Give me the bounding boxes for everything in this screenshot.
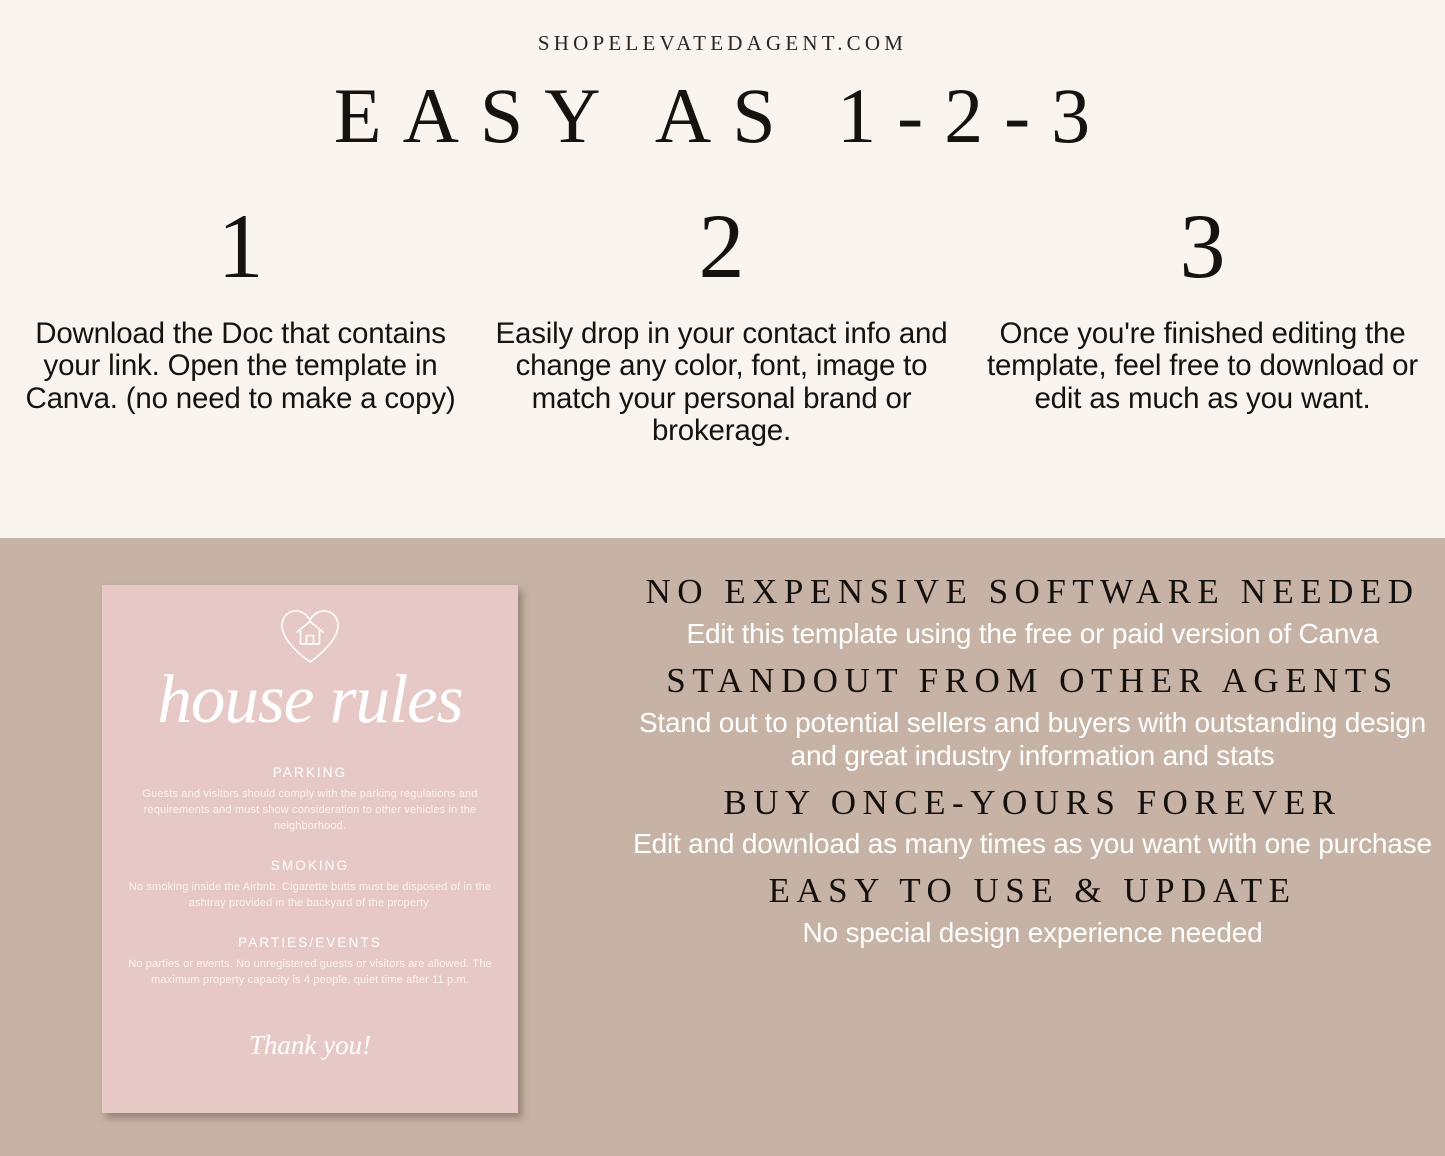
step-description: Once you're finished editing the templat… [962,318,1443,415]
step-description: Download the Doc that contains your link… [0,318,481,415]
heart-house-icon-wrap [102,607,518,667]
card-section-body: No smoking inside the Airbnb. Cigarette … [102,880,518,912]
card-title: house rules [102,665,518,734]
steps-row: 1 Download the Doc that contains your li… [0,200,1445,448]
feature-item-buy-once-yours-forever: BUY ONCE-YOURS FOREVER Edit and download… [620,781,1445,861]
house-rules-card: house rules PARKING Guests and visitors … [102,585,518,1113]
step-number: 2 [481,200,962,296]
feature-heading: BUY ONCE-YOURS FOREVER [620,781,1445,825]
step-number: 3 [962,200,1443,296]
feature-body: Edit this template using the free or pai… [620,617,1445,650]
page-title: EASY AS 1-2-3 [0,77,1445,155]
card-sections: PARKING Guests and visitors should compl… [102,765,518,1012]
card-section-smoking: SMOKING No smoking inside the Airbnb. Ci… [102,858,518,912]
step-item-1: 1 Download the Doc that contains your li… [0,200,481,448]
promo-graphic: SHOPELEVATEDAGENT.COM EASY AS 1-2-3 1 Do… [0,0,1445,1156]
feature-item-standout-from-other-agents: STANDOUT FROM OTHER AGENTS Stand out to … [620,659,1445,772]
feature-body: Edit and download as many times as you w… [620,827,1445,860]
card-section-title: PARTIES/EVENTS [102,935,518,950]
heart-house-icon [277,607,343,667]
card-section-parking: PARKING Guests and visitors should compl… [102,765,518,835]
card-section-parties-events: PARTIES/EVENTS No parties or events. No … [102,935,518,989]
step-item-2: 2 Easily drop in your contact info and c… [481,200,962,448]
step-description: Easily drop in your contact info and cha… [481,318,962,448]
feature-heading: STANDOUT FROM OTHER AGENTS [620,659,1445,703]
step-number: 1 [0,200,481,296]
card-section-body: Guests and visitors should comply with t… [102,787,518,835]
feature-item-easy-to-use-and-update: EASY TO USE & UPDATE No special design e… [620,869,1445,949]
feature-heading: NO EXPENSIVE SOFTWARE NEEDED [620,570,1445,614]
feature-heading: EASY TO USE & UPDATE [620,869,1445,913]
site-url: SHOPELEVATEDAGENT.COM [0,31,1445,56]
card-section-title: PARKING [102,765,518,780]
card-section-body: No parties or events. No unregistered gu… [102,957,518,989]
feature-list: NO EXPENSIVE SOFTWARE NEEDED Edit this t… [620,570,1445,958]
card-thank-you: Thank you! [102,1030,518,1061]
feature-body: No special design experience needed [620,916,1445,949]
feature-item-no-expensive-software: NO EXPENSIVE SOFTWARE NEEDED Edit this t… [620,570,1445,650]
card-section-title: SMOKING [102,858,518,873]
top-section: SHOPELEVATEDAGENT.COM EASY AS 1-2-3 1 Do… [0,0,1445,538]
feature-body: Stand out to potential sellers and buyer… [620,706,1445,772]
step-item-3: 3 Once you're finished editing the templ… [962,200,1443,448]
